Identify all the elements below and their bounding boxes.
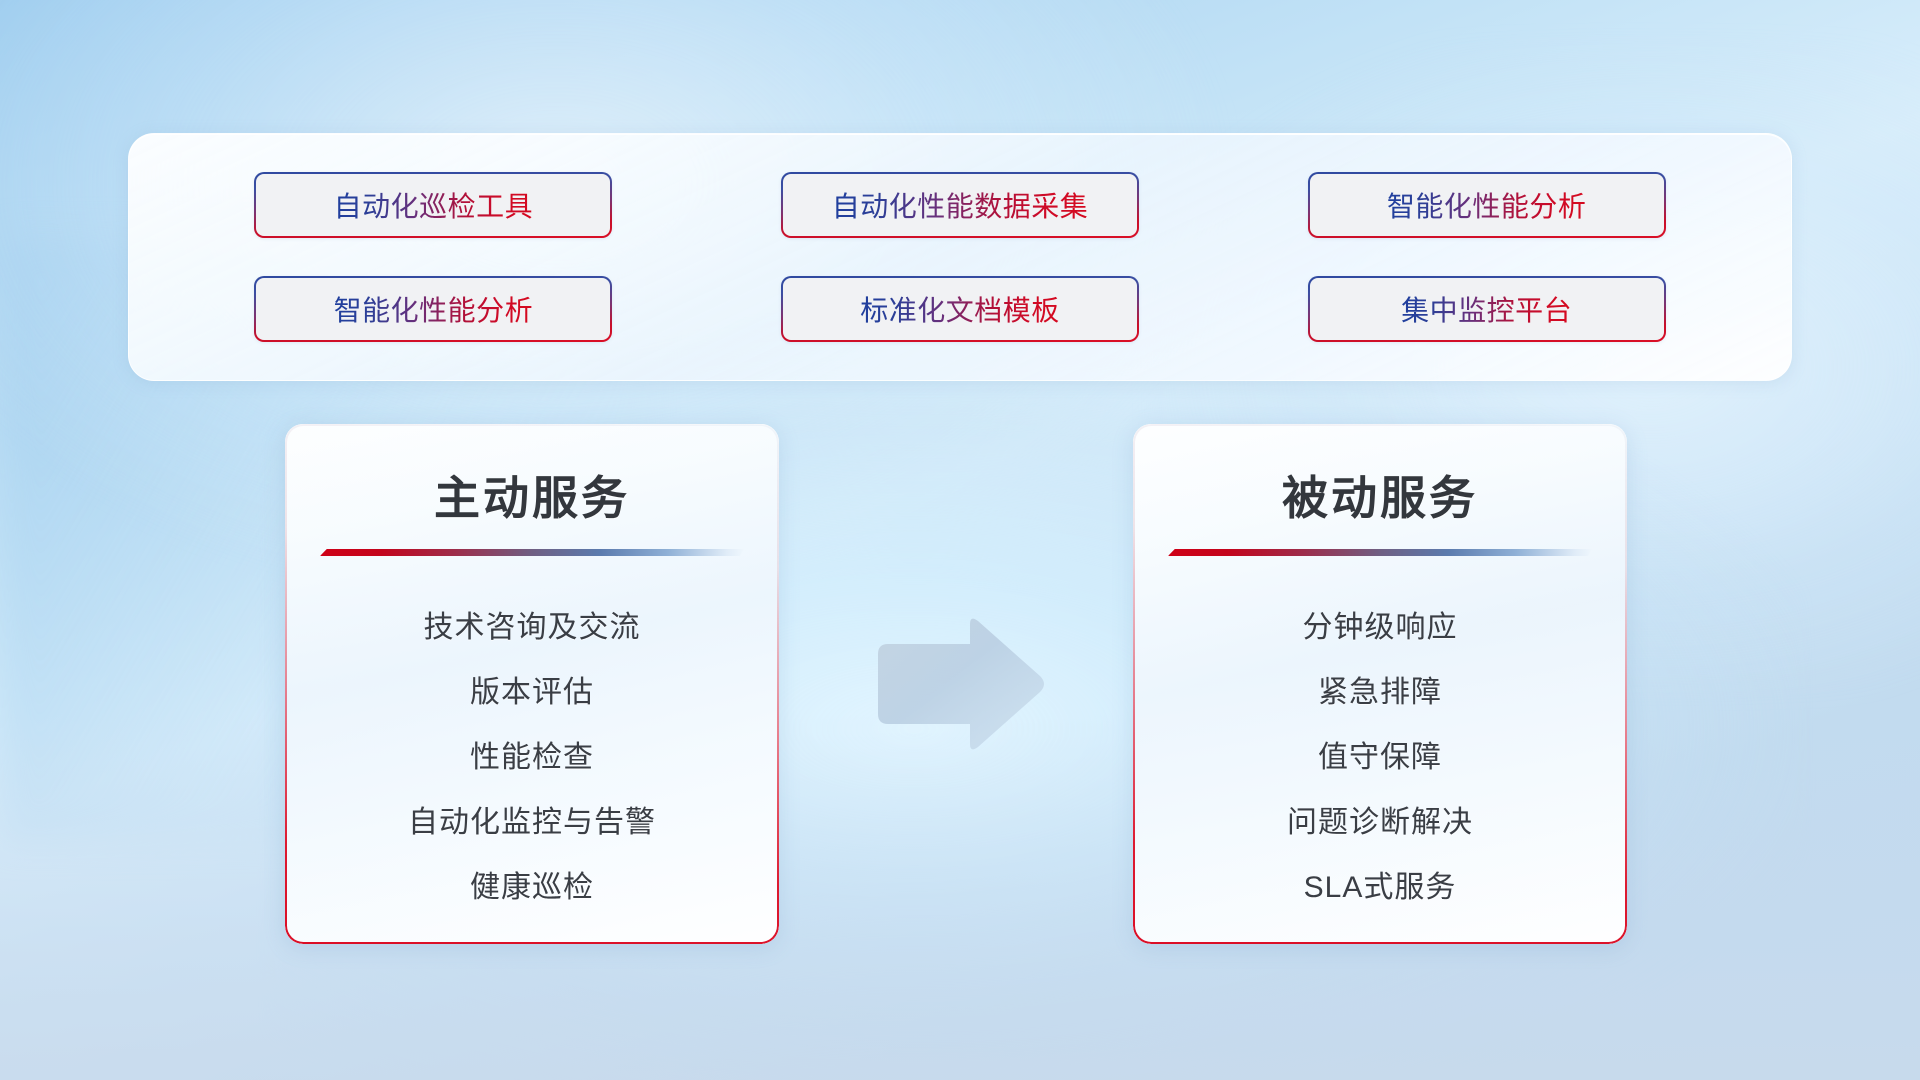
card-title: 被动服务 [1133,462,1627,528]
pill-intelligent-performance-analysis-bottom[interactable]: 智能化性能分析 [254,276,612,342]
list-item: 健康巡检 [470,862,594,906]
card-reactive-service[interactable]: 被动服务 分钟级响应 紧急排障 值守保障 问题诊断解决 SLA式服务 [1133,424,1627,944]
card-title-divider [320,549,744,556]
card-item-list: 分钟级响应 紧急排障 值守保障 问题诊断解决 SLA式服务 [1133,592,1627,916]
pill-label: 集中监控平台 [1401,289,1572,329]
pill-intelligent-performance-analysis-top[interactable]: 智能化性能分析 [1308,172,1666,238]
list-item: SLA式服务 [1304,862,1457,906]
list-item: 问题诊断解决 [1287,797,1473,841]
capability-pill-grid: 自动化巡检工具 自动化性能数据采集 智能化性能分析 智能化性能分析 标准化文档模… [129,134,1791,380]
list-item: 技术咨询及交流 [424,602,641,646]
list-item: 版本评估 [470,667,594,711]
pill-standardized-document-template[interactable]: 标准化文档模板 [781,276,1139,342]
pill-centralized-monitoring-platform[interactable]: 集中监控平台 [1308,276,1666,342]
pill-label: 标准化文档模板 [860,289,1060,329]
pill-label: 智能化性能分析 [334,289,534,329]
list-item: 自动化监控与告警 [408,797,656,841]
pill-automated-performance-data-collection[interactable]: 自动化性能数据采集 [781,172,1139,238]
card-item-list: 技术咨询及交流 版本评估 性能检查 自动化监控与告警 健康巡检 [285,592,779,916]
card-proactive-service[interactable]: 主动服务 技术咨询及交流 版本评估 性能检查 自动化监控与告警 健康巡检 [285,424,779,944]
pill-label: 自动化巡检工具 [334,185,534,225]
capability-pill-panel: 自动化巡检工具 自动化性能数据采集 智能化性能分析 智能化性能分析 标准化文档模… [128,133,1792,381]
list-item: 分钟级响应 [1303,602,1458,646]
pill-automated-inspection-tool[interactable]: 自动化巡检工具 [254,172,612,238]
pill-label: 智能化性能分析 [1387,185,1587,225]
list-item: 性能检查 [470,732,594,776]
list-item: 值守保障 [1318,732,1442,776]
pill-label: 自动化性能数据采集 [832,185,1089,225]
list-item: 紧急排障 [1318,667,1442,711]
arrow-right-icon [872,614,1048,754]
card-title: 主动服务 [285,462,779,528]
card-title-divider [1168,549,1592,556]
